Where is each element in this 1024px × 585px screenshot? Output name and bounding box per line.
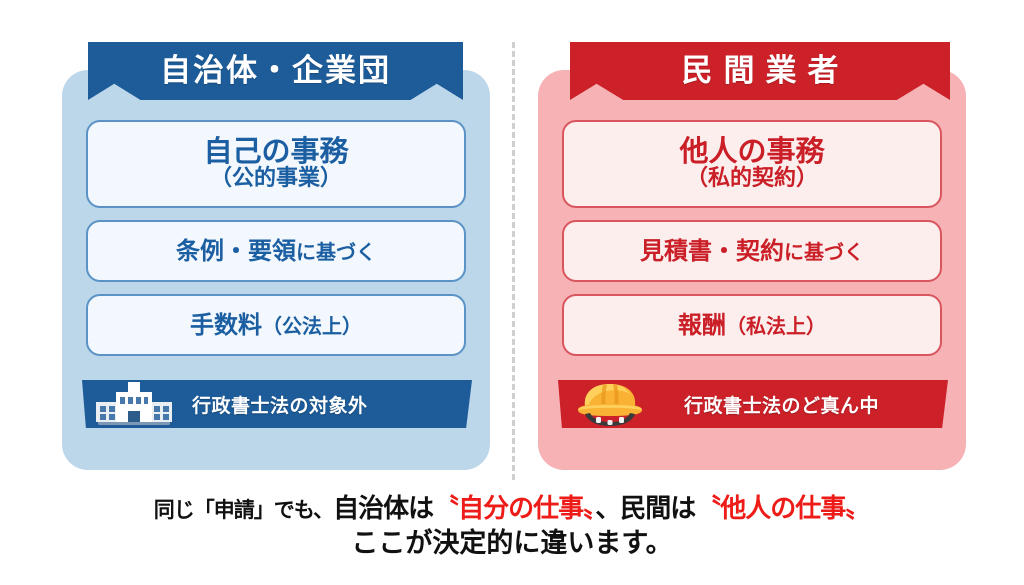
left-card1-main: 自己の事務 xyxy=(203,136,348,166)
right-panel-private-operator: 他人の事務 （私的契約） 見積書・契約に基づく 報酬（私法上） xyxy=(538,70,966,470)
right-card3-connector: （私法上） xyxy=(726,314,826,338)
right-card1-main: 他人の事務 xyxy=(679,136,824,166)
right-banner: 民間業者 xyxy=(570,42,950,100)
hard-hat-icon xyxy=(558,380,662,428)
left-card2-main: 条例・要領 xyxy=(176,237,296,265)
left-footer-bar: 行政書士法の対象外 xyxy=(82,380,472,428)
left-card-own-affairs: 自己の事務 （公的事業） xyxy=(86,120,466,208)
left-card3-connector: （公法上） xyxy=(262,314,362,338)
left-card1-sub: （公的事業） xyxy=(210,167,342,191)
right-card-contract-basis: 見積書・契約に基づく xyxy=(562,220,942,282)
left-panel-public-entity: 自己の事務 （公的事業） 条例・要領に基づく 手数料（公法上） xyxy=(62,70,490,470)
government-building-icon xyxy=(82,380,186,428)
right-card3-main: 報酬 xyxy=(678,311,726,339)
left-banner: 自治体・企業団 xyxy=(88,42,463,100)
left-card2-connector: に基づく xyxy=(296,240,376,264)
left-card-ordinance-basis: 条例・要領に基づく xyxy=(86,220,466,282)
right-card1-sub: （私的契約） xyxy=(686,167,818,191)
right-card-others-affairs: 他人の事務 （私的契約） xyxy=(562,120,942,208)
right-footer-bar: 行政書士法のど真ん中 xyxy=(558,380,948,428)
caption-block: 同じ「申請」でも、自治体は〝自分の仕事〟、民間は〝他人の仕事〟 ここが決定的に違… xyxy=(0,492,1024,562)
caption-part-2: 自治体は xyxy=(333,494,433,524)
caption-highlight-others-work: 〝他人の仕事〟 xyxy=(695,494,870,524)
right-card2-connector: に基づく xyxy=(784,240,864,264)
right-card3-row: 報酬（私法上） xyxy=(678,313,826,337)
caption-part-1: 同じ「申請」でも、 xyxy=(154,498,333,522)
right-card2-row: 見積書・契約に基づく xyxy=(640,239,864,263)
left-card3-row: 手数料（公法上） xyxy=(190,313,362,337)
left-banner-title: 自治体・企業団 xyxy=(160,56,391,87)
left-card-fee: 手数料（公法上） xyxy=(86,294,466,356)
infographic-stage: 自己の事務 （公的事業） 条例・要領に基づく 手数料（公法上） xyxy=(0,0,1024,585)
left-card2-row: 条例・要領に基づく xyxy=(176,239,376,263)
left-card3-main: 手数料 xyxy=(190,311,262,339)
caption-highlight-own-work: 〝自分の仕事〟 xyxy=(433,494,595,524)
right-card-remuneration: 報酬（私法上） xyxy=(562,294,942,356)
right-card2-main: 見積書・契約 xyxy=(640,237,784,265)
left-footer-label: 行政書士法の対象外 xyxy=(192,391,368,418)
caption-part-3: 、民間は xyxy=(595,494,695,524)
right-banner-title: 民間業者 xyxy=(671,56,850,87)
vertical-dashed-divider xyxy=(512,42,515,480)
caption-line-1: 同じ「申請」でも、自治体は〝自分の仕事〟、民間は〝他人の仕事〟 xyxy=(0,492,1024,526)
caption-line-2: ここが決定的に違います。 xyxy=(0,526,1024,562)
right-footer-label: 行政書士法のど真ん中 xyxy=(684,391,879,418)
